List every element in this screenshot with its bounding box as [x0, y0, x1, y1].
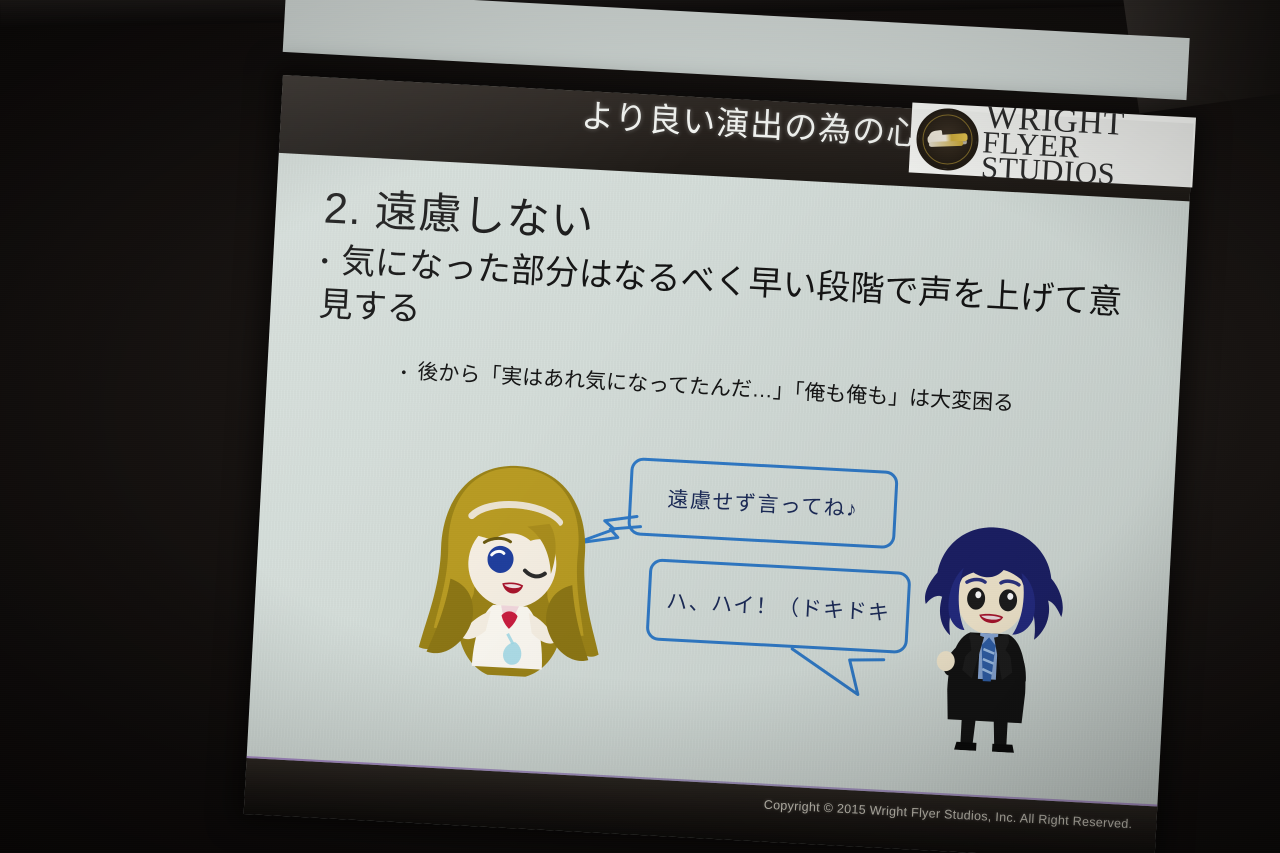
- wright-flyer-studios-logo: WRIGHT FLYER STUDIOS: [909, 103, 1196, 188]
- projection-screen: より良い演出の為の心構え WRIGHT FLYER STUDIOS: [0, 0, 1280, 853]
- bullet-level-1: •気になった部分はなるべく早い段階で声を上げて意見する: [318, 239, 1151, 370]
- speech-bubble-man-text: ハ、ハイ！（ドキドキ: [666, 585, 892, 627]
- photo-frame: より良い演出の為の心構え WRIGHT FLYER STUDIOS: [0, 0, 1280, 853]
- blonde-girl-character: [400, 450, 622, 701]
- glider-emblem-icon: [915, 107, 980, 172]
- slide-body: 2. 遠慮しない •気になった部分はなるべく早い段階で声を上げて意見する •後か…: [246, 153, 1189, 809]
- sub-bullet-marker-icon: •: [401, 363, 418, 382]
- logo-line-2: FLYER STUDIOS: [980, 129, 1194, 188]
- speech-bubble-girl-text: 遠慮せず言ってね♪: [667, 483, 859, 523]
- bullet-level-2-text: 後から「実はあれ気になってたんだ…」「俺も俺も」は大変困る: [417, 361, 1015, 416]
- bullet-level-2: •後から「実はあれ気になってたんだ…」「俺も俺も」は大変困る: [401, 358, 1161, 426]
- logo-wordmark: WRIGHT FLYER STUDIOS: [980, 103, 1196, 188]
- presentation-slide: より良い演出の為の心構え WRIGHT FLYER STUDIOS: [244, 75, 1194, 853]
- speech-bubble-man: ハ、ハイ！（ドキドキ: [645, 558, 911, 654]
- speech-bubble-girl: 遠慮せず言ってね♪: [627, 457, 899, 549]
- bullet-level-1-text: 気になった部分はなるべく早い段階で声を上げて意見する: [318, 242, 1123, 328]
- section-title: 2. 遠慮しない: [323, 173, 597, 249]
- blue-haired-man-character: [908, 518, 1070, 756]
- copyright-text: Copyright © 2015 Wright Flyer Studios, I…: [763, 798, 1132, 832]
- bullet-marker-icon: •: [320, 250, 341, 277]
